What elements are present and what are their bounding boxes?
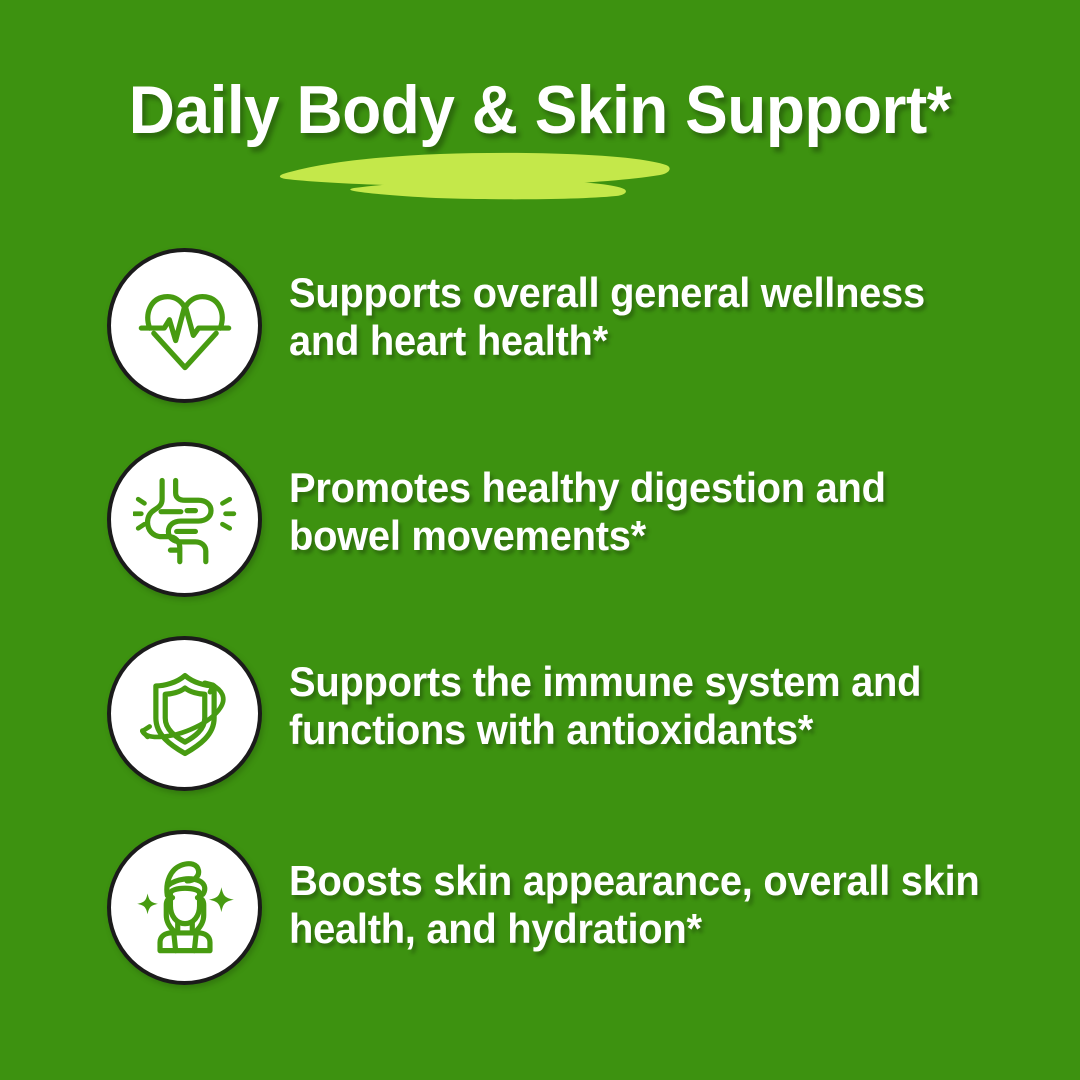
benefit-text: Promotes healthy digestion and bowel mov… <box>289 464 1040 560</box>
brush-stroke-lower <box>350 180 626 199</box>
heart-pulse-icon <box>133 274 237 378</box>
skincare-face-icon-badge <box>107 830 262 985</box>
brush-underline <box>276 146 676 202</box>
sparkle-right-icon <box>208 887 233 912</box>
heart-pulse-icon-badge <box>107 248 262 403</box>
promo-poster: Daily Body & Skin Support* Supports over… <box>0 0 1080 1080</box>
benefit-row: Supports the immune system and functions… <box>0 636 1080 830</box>
sparkle-left-icon <box>137 893 158 914</box>
benefit-text: Supports overall general wellness and he… <box>289 269 1040 365</box>
brush-stroke-upper <box>280 153 670 186</box>
shield-orbit-icon-badge <box>107 636 262 791</box>
title-block: Daily Body & Skin Support* <box>0 72 1080 148</box>
benefit-row: Boosts skin appearance, overall skin hea… <box>0 830 1080 1024</box>
benefit-row: Supports overall general wellness and he… <box>0 248 1080 442</box>
benefit-text: Boosts skin appearance, overall skin hea… <box>289 857 1040 953</box>
page-title: Daily Body & Skin Support* <box>32 72 1047 148</box>
benefit-text: Supports the immune system and functions… <box>289 658 1040 754</box>
intestines-icon <box>133 468 237 572</box>
benefit-row: Promotes healthy digestion and bowel mov… <box>0 442 1080 636</box>
skincare-face-icon <box>133 856 237 960</box>
shield-orbit-icon <box>133 662 237 766</box>
benefit-list: Supports overall general wellness and he… <box>0 248 1080 1024</box>
intestines-icon-badge <box>107 442 262 597</box>
